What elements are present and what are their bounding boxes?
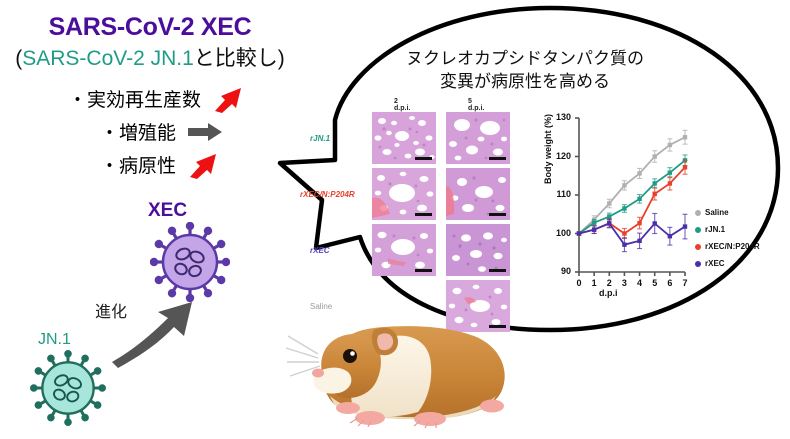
xec-virus-label: XEC <box>148 200 187 222</box>
histology-image <box>372 224 436 276</box>
legend-label: rJN.1 <box>705 225 725 234</box>
scale-bar <box>415 157 432 160</box>
red-up-arrow-icon <box>211 85 245 113</box>
chart-plot-area <box>545 112 750 302</box>
bullet-label-3: ・病原性 <box>100 151 176 178</box>
scale-bar <box>489 269 506 272</box>
subtitle-tail: と比較し) <box>194 47 285 70</box>
scale-bar <box>415 269 432 272</box>
histology-row-label-rxec: rXEC <box>310 246 330 255</box>
page-title: SARS-CoV-2 XEC <box>0 14 300 42</box>
bullet-label-1: ・実効再生産数 <box>68 85 201 112</box>
histology-col-header-2dpi: 2 d.p.i. <box>394 98 410 112</box>
subtitle-strain: SARS-CoV-2 JN.1 <box>22 47 194 70</box>
histology-row-label-rjn1: rJN.1 <box>310 134 330 143</box>
list-item: ・実効再生産数 <box>58 82 308 115</box>
subtitle: (SARS-CoV-2 JN.1と比較し) <box>0 47 300 71</box>
legend-label: rXEC/N:P204R <box>705 242 760 251</box>
histology-col-header-5dpi: 5 d.p.i. <box>468 98 484 112</box>
bullet-label-2: ・増殖能 <box>100 118 176 145</box>
legend-label: Saline <box>705 208 729 217</box>
body-weight-chart: Body weight (%) 90100110120130 01234567 … <box>545 112 750 302</box>
legend-item: rJN.1 <box>695 225 725 234</box>
legend-marker-icon <box>695 244 701 250</box>
title-block: SARS-CoV-2 XEC (SARS-CoV-2 JN.1と比較し) <box>0 14 300 71</box>
bullet-list: ・実効再生産数 ・増殖能 ・病原性 <box>58 82 308 181</box>
list-item: ・増殖能 <box>58 115 308 148</box>
legend-item: rXEC/N:P204R <box>695 242 760 251</box>
legend-marker-icon <box>695 227 701 233</box>
legend-marker-icon <box>695 261 701 267</box>
legend-marker-icon <box>695 210 701 216</box>
xec-virus-icon <box>150 222 230 302</box>
bubble-message: ヌクレオカプシドタンパク質の 変異が病原性を高める <box>400 48 650 94</box>
legend-label: rXEC <box>705 259 725 268</box>
histology-image <box>446 112 510 164</box>
hamster-illustration <box>278 292 528 439</box>
bubble-message-line1: ヌクレオカプシドタンパク質の <box>400 48 650 71</box>
histology-row-label-rxec-p204r: rXEC/N:P204R <box>300 190 355 199</box>
gray-right-arrow-icon <box>186 121 224 143</box>
legend-item: rXEC <box>695 259 725 268</box>
list-item: ・病原性 <box>58 148 308 181</box>
histology-image <box>446 168 510 220</box>
legend-item: Saline <box>695 208 729 217</box>
histology-image <box>446 224 510 276</box>
chart-series-rjn-1 <box>577 155 688 236</box>
jn1-virus-icon <box>30 350 106 426</box>
bubble-message-line2: 変異が病原性を高める <box>400 71 650 94</box>
red-up-arrow-icon <box>186 151 220 179</box>
scale-bar <box>415 213 432 216</box>
histology-image <box>372 112 436 164</box>
histology-image <box>372 168 436 220</box>
scale-bar <box>489 157 506 160</box>
scale-bar <box>489 213 506 216</box>
jn1-virus-label: JN.1 <box>38 331 71 349</box>
evolution-arrow-icon <box>110 300 200 370</box>
